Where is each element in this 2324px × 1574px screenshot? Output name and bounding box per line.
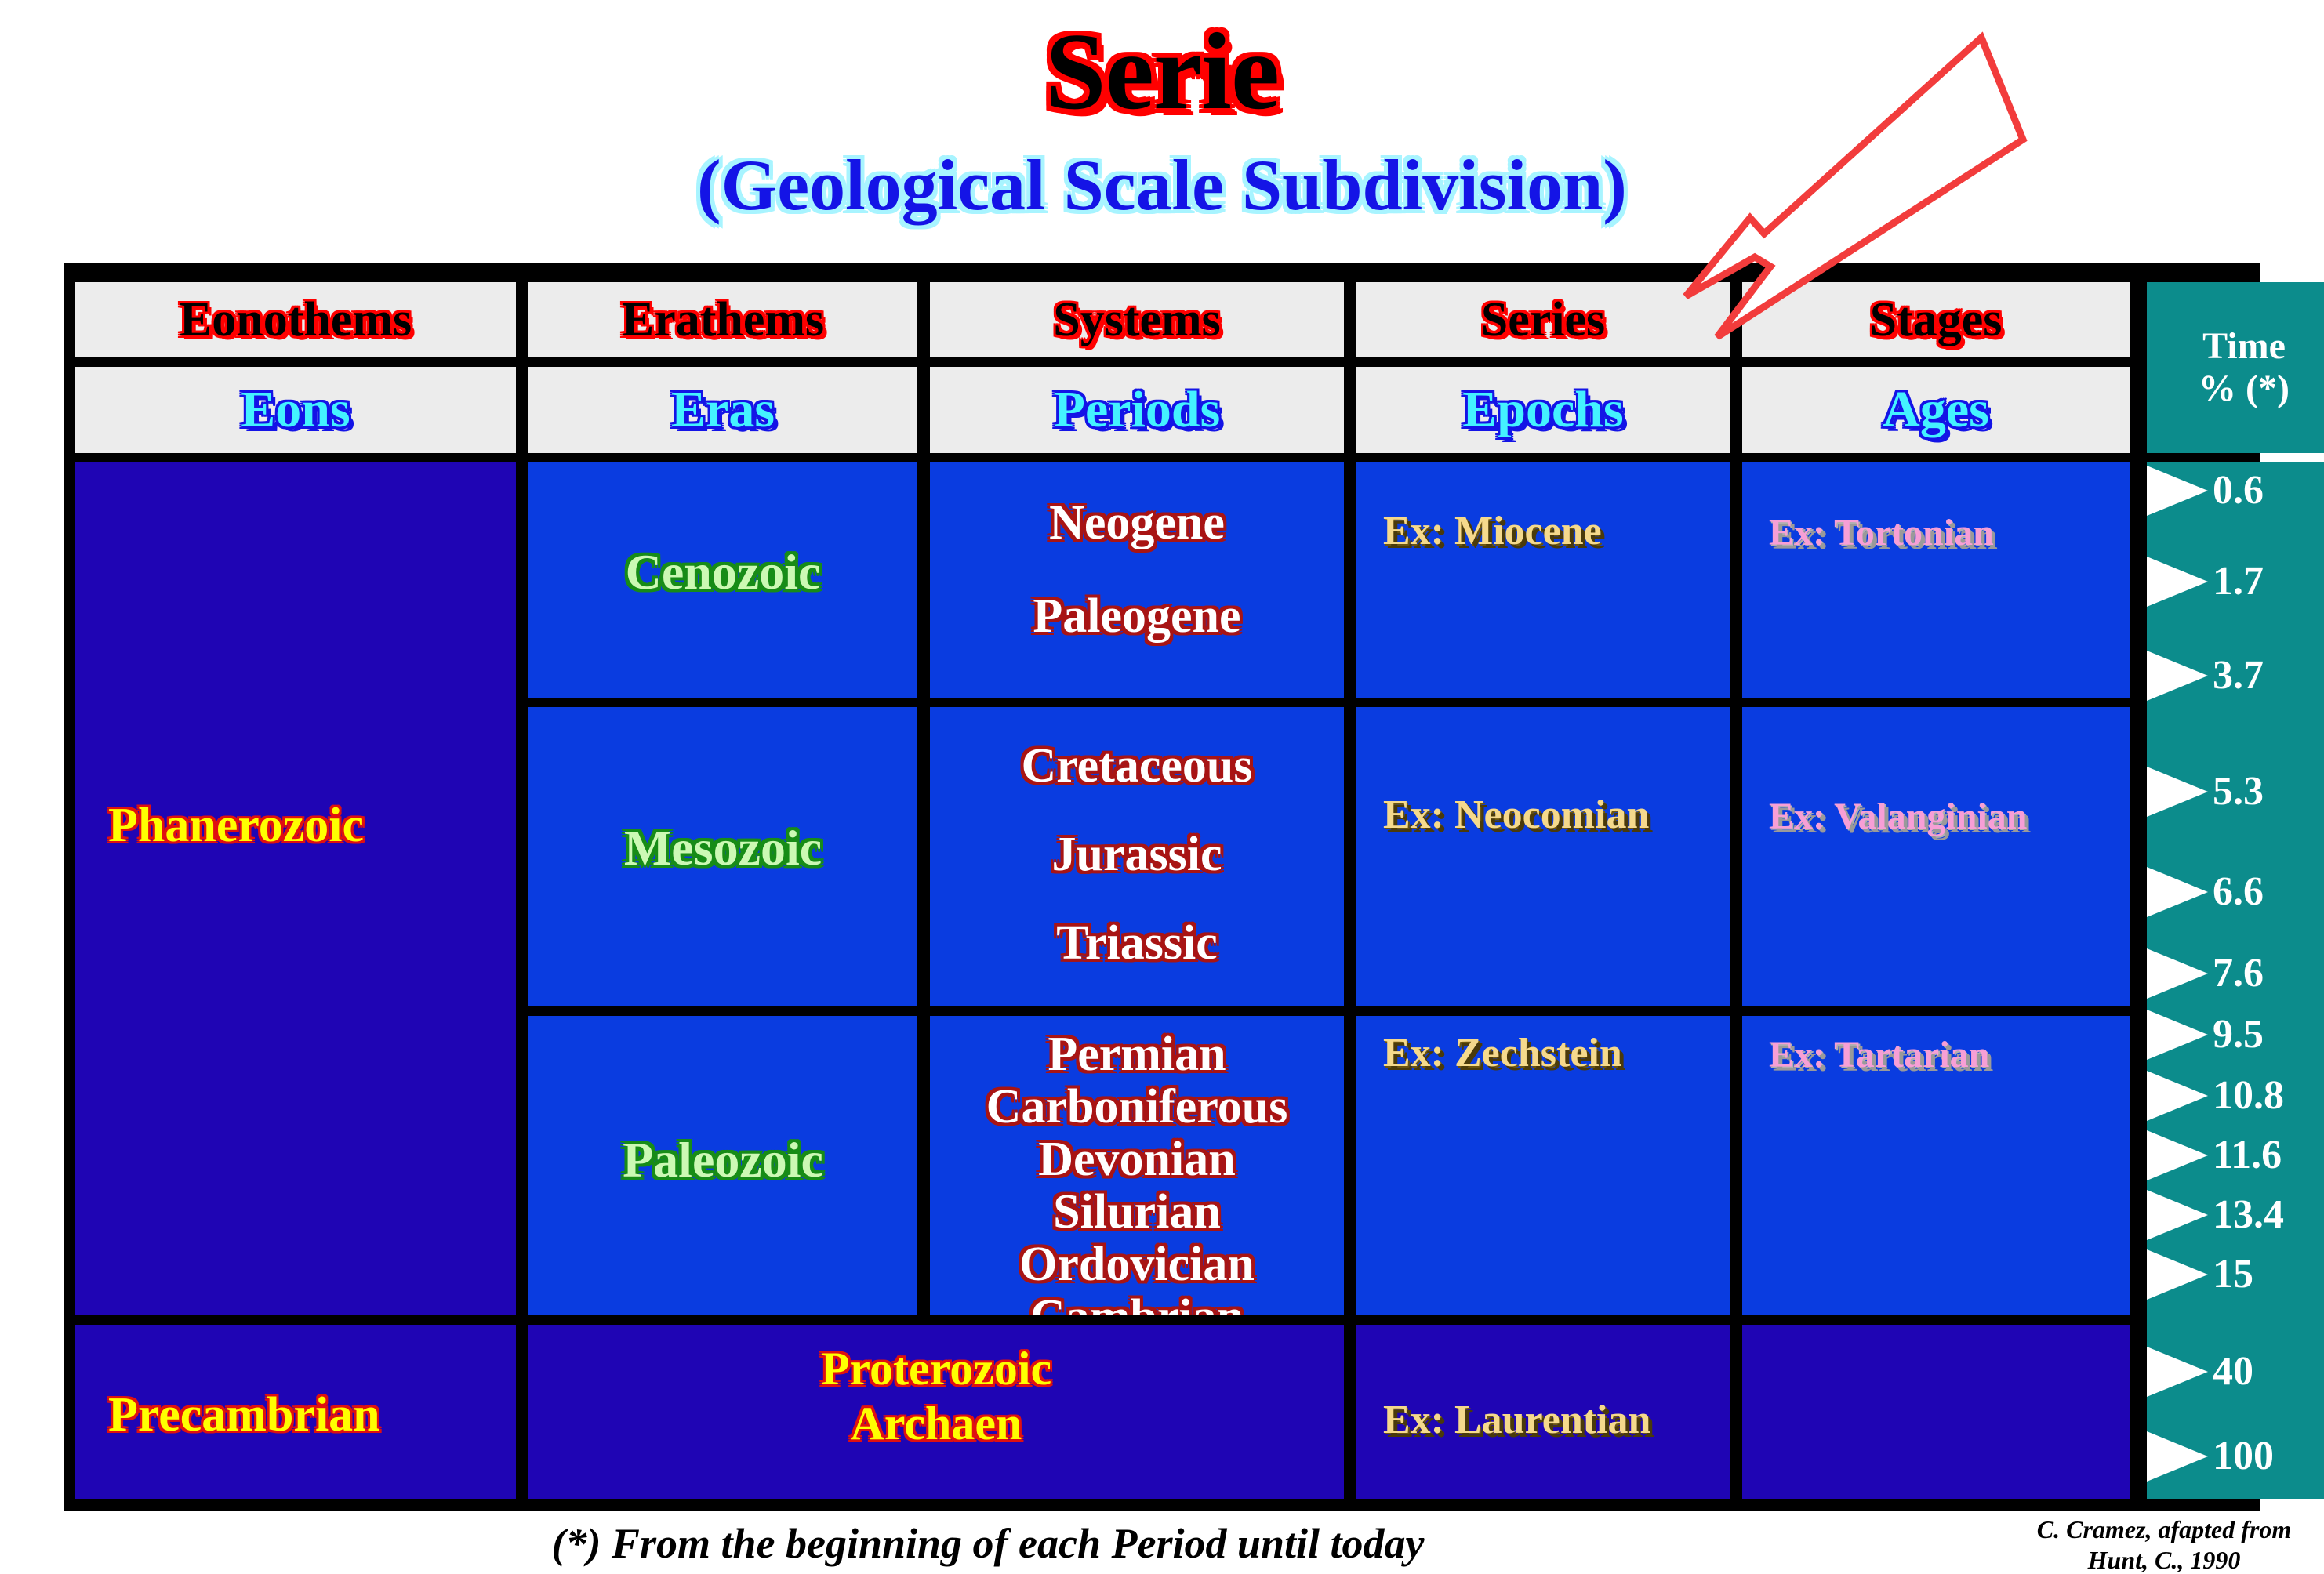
eon-label-precambrian: Precambrian xyxy=(108,1391,380,1439)
stage-label-valanginian: Ex: Valanginian xyxy=(1769,798,2027,836)
cell-epoch-paleozoic: Ex: Zechstein xyxy=(1356,1016,1730,1315)
header-eons: Eons xyxy=(75,367,516,453)
period-label: Triassic xyxy=(930,917,1344,970)
header-periods: Periods xyxy=(930,367,1344,453)
chevron-right-icon xyxy=(2147,1431,2208,1482)
period-label: Cambrian xyxy=(930,1291,1344,1315)
epoch-label-zechstein: Ex: Zechstein xyxy=(1383,1033,1622,1074)
time-tick: 5.3 xyxy=(2147,767,2324,817)
cell-epoch-cenozoic: Ex: Miocene xyxy=(1356,462,1730,698)
time-tick: 3.7 xyxy=(2147,651,2324,701)
chevron-right-icon xyxy=(2147,557,2208,607)
cell-periods-mesozoic: Cretaceous Jurassic Triassic xyxy=(930,707,1344,1006)
time-tick: 0.6 xyxy=(2147,466,2324,516)
chevron-right-icon xyxy=(2147,1347,2208,1397)
time-tick: 15 xyxy=(2147,1249,2324,1300)
cell-epoch-precambrian: Ex: Laurentian xyxy=(1356,1325,1730,1499)
period-label: Ordovician xyxy=(930,1239,1344,1291)
time-tick: 13.4 xyxy=(2147,1190,2324,1240)
chevron-right-icon xyxy=(2147,466,2208,516)
period-label: Archaen xyxy=(851,1397,1022,1452)
chevron-right-icon xyxy=(2147,867,2208,917)
cell-periods-cenozoic: Neogene Paleogene xyxy=(930,462,1344,698)
period-label: Proterozoic xyxy=(821,1342,1051,1397)
cell-stage-mesozoic: Ex: Valanginian xyxy=(1742,707,2130,1006)
period-label: Permian xyxy=(930,1028,1344,1081)
period-label: Cretaceous xyxy=(930,740,1344,792)
chevron-right-icon xyxy=(2147,1010,2208,1060)
credit-line-2: Hunt, C., 1990 xyxy=(2007,1545,2321,1574)
cell-stage-cenozoic: Ex: Tortonian xyxy=(1742,462,2130,698)
time-tick: 40 xyxy=(2147,1347,2324,1397)
credit-line-1: C. Cramez, afapted from xyxy=(2007,1514,2321,1545)
geological-table-frame: Eonothems Erathems Systems Series Stages… xyxy=(64,263,2260,1511)
time-tick: 1.7 xyxy=(2147,557,2324,607)
footnote-text: (*) From the beginning of each Period un… xyxy=(0,1519,1976,1568)
chevron-right-icon xyxy=(2147,948,2208,999)
header-systems: Systems xyxy=(930,282,1344,357)
cell-periods-paleozoic: Permian Carboniferous Devonian Silurian … xyxy=(930,1016,1344,1315)
chevron-right-icon xyxy=(2147,1130,2208,1180)
chevron-right-icon xyxy=(2147,651,2208,701)
time-tick: 9.5 xyxy=(2147,1010,2324,1060)
header-ages: Ages xyxy=(1742,367,2130,453)
era-label-mesozoic: Mesozoic xyxy=(528,823,917,873)
period-label: Paleogene xyxy=(930,590,1344,643)
cell-eon-phanerozoic: Phanerozoic xyxy=(75,462,516,1315)
source-credit: C. Cramez, afapted from Hunt, C., 1990 xyxy=(2007,1514,2321,1574)
epoch-label-laurentian: Ex: Laurentian xyxy=(1383,1400,1650,1441)
time-tick: 11.6 xyxy=(2147,1130,2324,1180)
era-label-paleozoic: Paleozoic xyxy=(528,1135,917,1185)
time-tick: 10.8 xyxy=(2147,1071,2324,1121)
time-tick: 6.6 xyxy=(2147,867,2324,917)
geological-scale-poster: Serie (Geological Scale Subdivision) Eon… xyxy=(0,0,2324,1574)
cell-era-paleozoic: Paleozoic xyxy=(528,1016,917,1315)
period-label: Carboniferous xyxy=(930,1081,1344,1133)
header-eonothems: Eonothems xyxy=(75,282,516,357)
epoch-label-miocene: Ex: Miocene xyxy=(1383,511,1602,552)
cell-era-cenozoic: Cenozoic xyxy=(528,462,917,698)
cell-periods-precambrian: Proterozoic Archaen xyxy=(528,1325,1344,1499)
header-time-percent: Time % (*) xyxy=(2147,282,2324,453)
era-label-cenozoic: Cenozoic xyxy=(528,547,917,597)
time-percent-scale: 0.6 1.7 3.7 5.3 6.6 7.6 9.5 10.8 11.6 13… xyxy=(2147,462,2324,1499)
chevron-right-icon xyxy=(2147,1249,2208,1300)
period-label: Jurassic xyxy=(930,829,1344,881)
cell-stage-precambrian xyxy=(1742,1325,2130,1499)
header-epochs: Epochs xyxy=(1356,367,1730,453)
chevron-right-icon xyxy=(2147,767,2208,817)
cell-epoch-mesozoic: Ex: Neocomian xyxy=(1356,707,1730,1006)
chevron-right-icon xyxy=(2147,1190,2208,1240)
eon-label-phanerozoic: Phanerozoic xyxy=(108,801,364,850)
stage-label-tartarian: Ex: Tartarian xyxy=(1769,1036,1989,1074)
stage-label-tortonian: Ex: Tortonian xyxy=(1769,514,1994,552)
time-tick: 100 xyxy=(2147,1431,2324,1482)
header-erathems: Erathems xyxy=(528,282,917,357)
red-arrow-annotation-icon xyxy=(1639,8,2141,345)
period-label: Neogene xyxy=(930,497,1344,549)
chevron-right-icon xyxy=(2147,1071,2208,1121)
period-label: Devonian xyxy=(930,1133,1344,1186)
header-eras: Eras xyxy=(528,367,917,453)
cell-era-mesozoic: Mesozoic xyxy=(528,707,917,1006)
cell-stage-paleozoic: Ex: Tartarian xyxy=(1742,1016,2130,1315)
epoch-label-neocomian: Ex: Neocomian xyxy=(1383,795,1649,836)
time-tick: 7.6 xyxy=(2147,948,2324,999)
cell-eon-precambrian: Precambrian xyxy=(75,1325,516,1499)
period-label: Silurian xyxy=(930,1186,1344,1239)
